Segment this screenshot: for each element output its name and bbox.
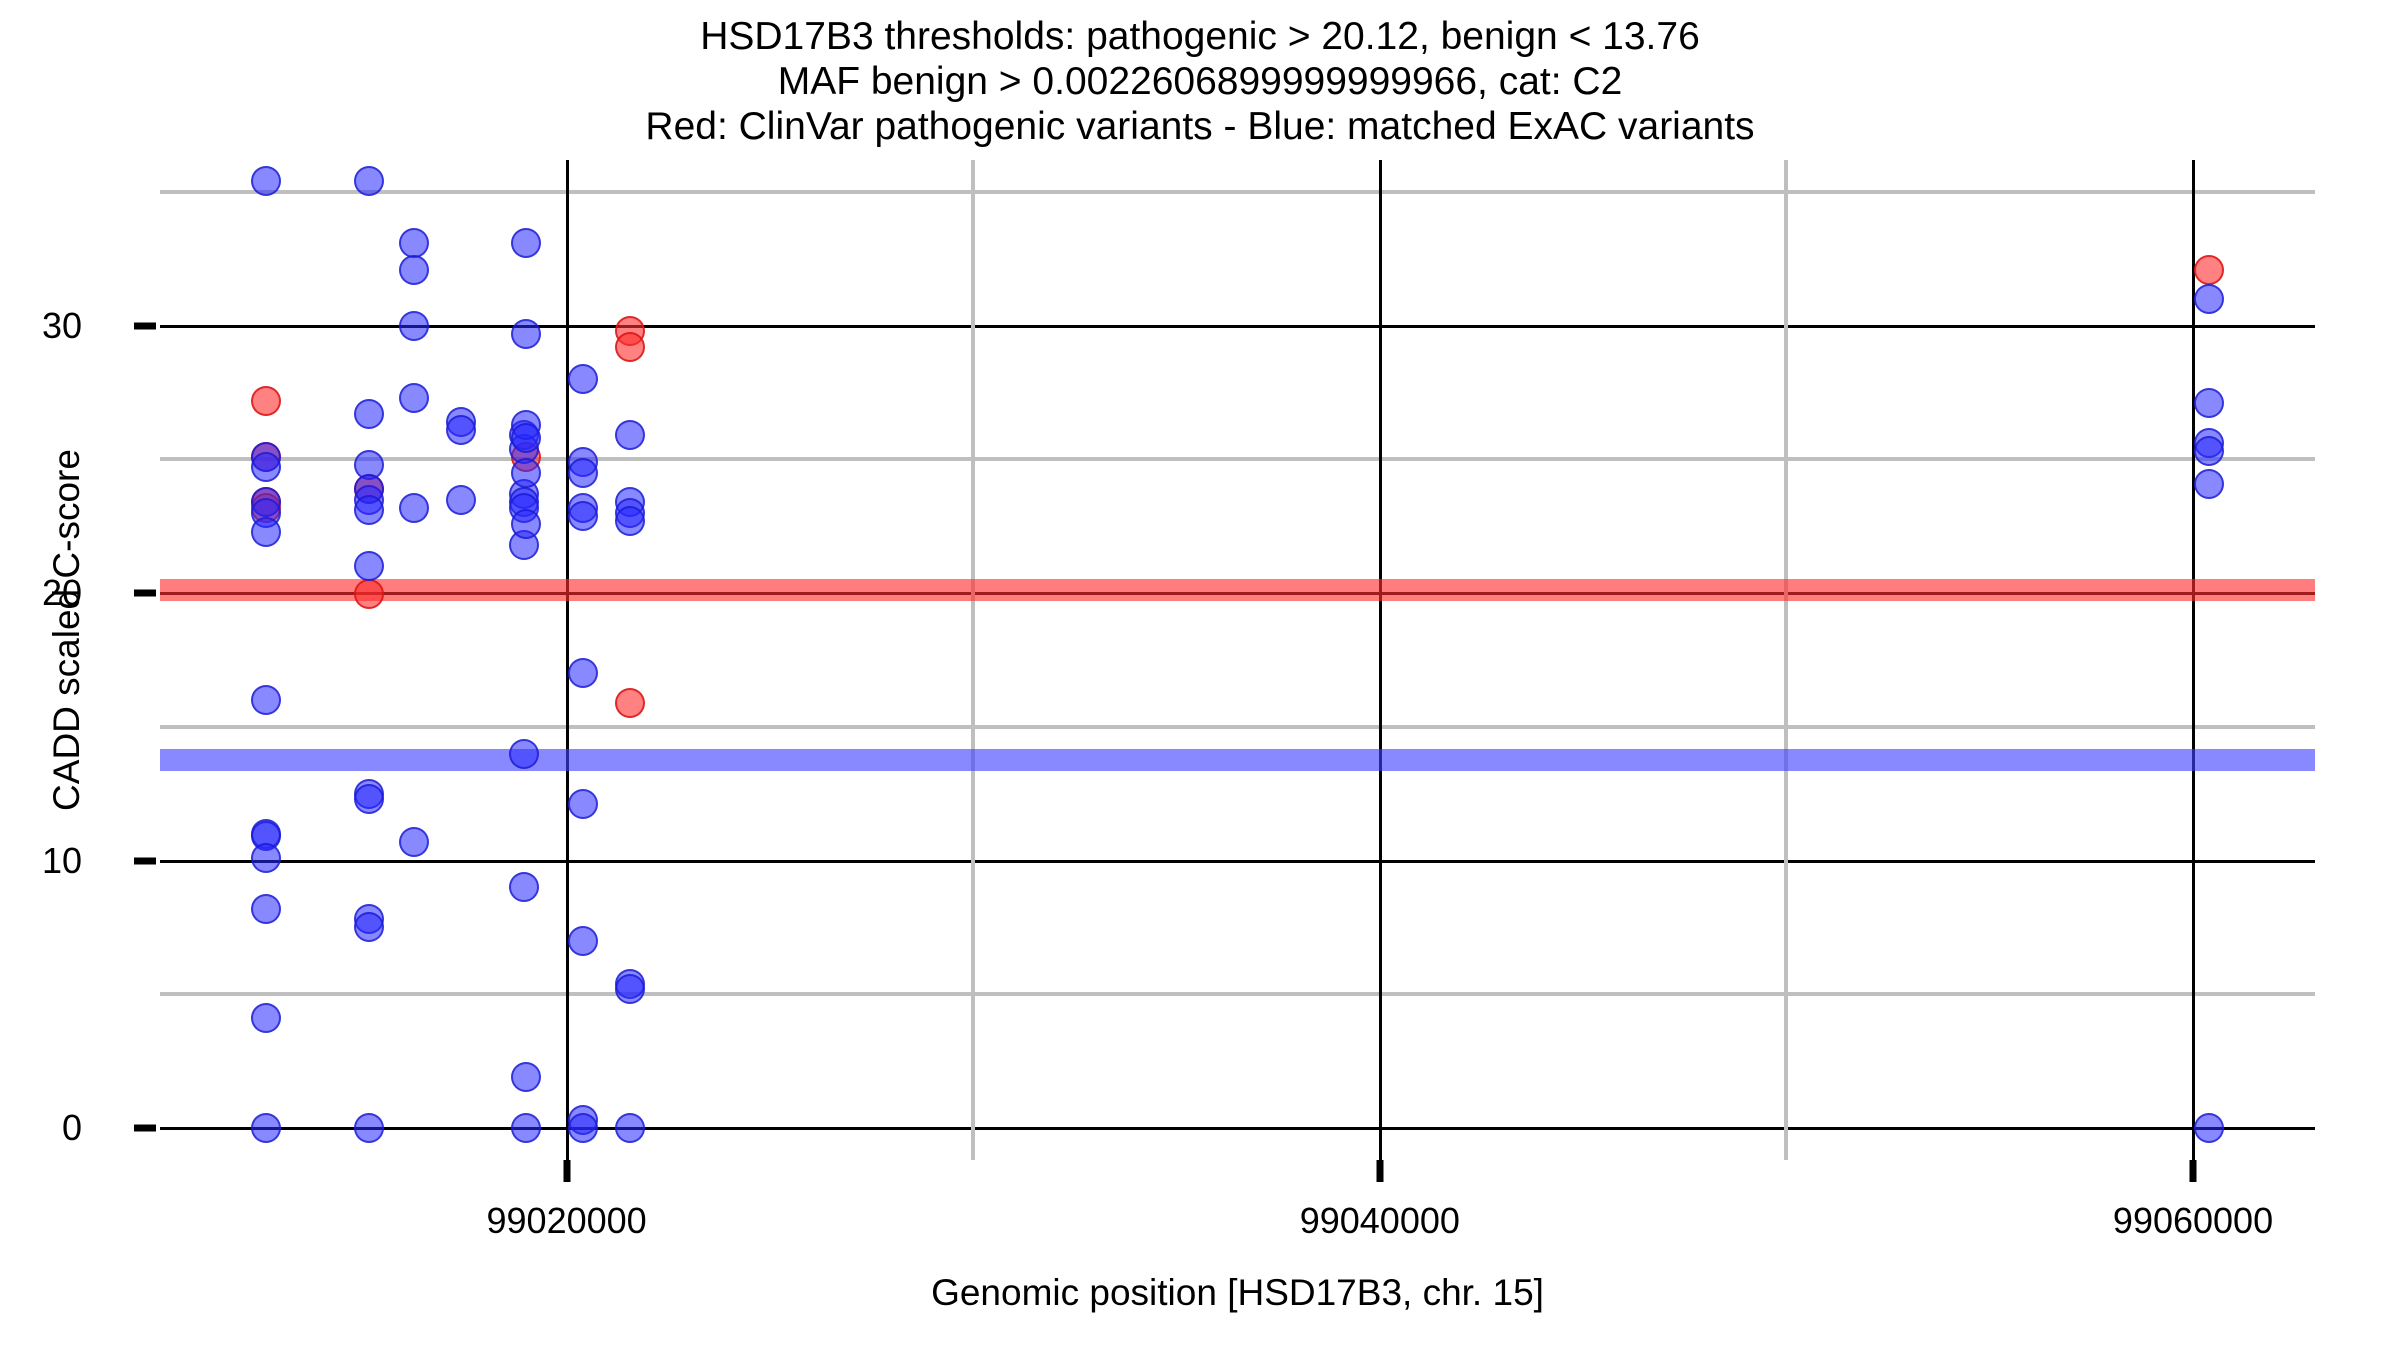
point-exac (511, 228, 541, 258)
gridline-y-major (160, 860, 2315, 863)
point-exac (568, 501, 598, 531)
point-pathogenic (615, 688, 645, 718)
point-exac (615, 506, 645, 536)
point-exac (568, 364, 598, 394)
point-exac (354, 912, 384, 942)
gridline-y-major (160, 325, 2315, 328)
point-exac (399, 311, 429, 341)
point-exac (509, 872, 539, 902)
point-exac (2194, 436, 2224, 466)
threshold-band-pathogenic (160, 579, 2315, 601)
y-tick-mark (134, 322, 156, 329)
point-exac (2194, 388, 2224, 418)
x-tick-mark (563, 1160, 570, 1182)
point-exac (511, 509, 541, 539)
point-exac (615, 420, 645, 450)
point-exac (511, 1113, 541, 1143)
point-exac (2194, 1113, 2224, 1143)
gridline-x-major (2192, 160, 2195, 1160)
point-exac (511, 423, 541, 453)
point-exac (354, 399, 384, 429)
point-exac (568, 1113, 598, 1143)
point-exac (511, 1062, 541, 1092)
point-exac (511, 319, 541, 349)
x-tick-label: 99040000 (1300, 1200, 1460, 1242)
gridline-x-major (1379, 160, 1382, 1160)
gridline-x-minor (1784, 160, 1788, 1160)
y-tick-label: 30 (42, 305, 82, 347)
chart-title-line-2: MAF benign > 0.0022606899999999966, cat:… (0, 59, 2400, 104)
gridline-x-minor (971, 160, 975, 1160)
chart-title: HSD17B3 thresholds: pathogenic > 20.12, … (0, 14, 2400, 149)
point-exac (354, 784, 384, 814)
y-tick-label: 10 (42, 840, 82, 882)
gridline-y-minor (160, 190, 2315, 194)
point-exac (251, 894, 281, 924)
x-tick-label: 99020000 (487, 1200, 647, 1242)
point-exac (399, 493, 429, 523)
y-tick-label: 20 (42, 572, 82, 614)
x-tick-label: 99060000 (2113, 1200, 2273, 1242)
point-exac (568, 658, 598, 688)
gridline-y-minor (160, 457, 2315, 461)
point-exac (251, 166, 281, 196)
point-exac (568, 789, 598, 819)
point-pathogenic (251, 386, 281, 416)
point-exac (354, 551, 384, 581)
x-tick-mark (2190, 1160, 2197, 1182)
point-exac (251, 1113, 281, 1143)
point-exac (399, 255, 429, 285)
chart-title-line-1: HSD17B3 thresholds: pathogenic > 20.12, … (0, 14, 2400, 59)
point-exac (2194, 469, 2224, 499)
point-exac (251, 452, 281, 482)
point-exac (354, 495, 384, 525)
y-tick-mark (134, 1124, 156, 1131)
point-exac (509, 739, 539, 769)
point-exac (615, 974, 645, 1004)
y-axis-title: CADD scaled C-score (46, 130, 88, 1130)
point-exac (446, 485, 476, 515)
point-exac (251, 1003, 281, 1033)
point-exac (354, 1113, 384, 1143)
gridline-y-minor (160, 992, 2315, 996)
y-tick-mark (134, 857, 156, 864)
point-exac (446, 415, 476, 445)
point-pathogenic (2194, 255, 2224, 285)
x-axis-title: Genomic position [HSD17B3, chr. 15] (160, 1272, 2315, 1314)
point-exac (511, 458, 541, 488)
point-exac (2194, 284, 2224, 314)
point-pathogenic (354, 579, 384, 609)
plot-area (160, 160, 2315, 1160)
gridline-y-minor (160, 725, 2315, 729)
gridline-x-major (566, 160, 569, 1160)
point-exac (568, 458, 598, 488)
y-tick-mark (134, 590, 156, 597)
point-exac (568, 926, 598, 956)
point-exac (615, 1113, 645, 1143)
point-exac (399, 228, 429, 258)
gridline-y-major (160, 1127, 2315, 1130)
point-exac (399, 827, 429, 857)
chart-root: HSD17B3 thresholds: pathogenic > 20.12, … (0, 0, 2400, 1350)
point-exac (251, 843, 281, 873)
x-tick-mark (1376, 1160, 1383, 1182)
point-pathogenic (615, 332, 645, 362)
point-exac (399, 383, 429, 413)
threshold-band-benign (160, 749, 2315, 771)
chart-title-line-3: Red: ClinVar pathogenic variants - Blue:… (0, 104, 2400, 149)
point-exac (251, 517, 281, 547)
point-exac (251, 685, 281, 715)
y-tick-label: 0 (62, 1107, 82, 1149)
